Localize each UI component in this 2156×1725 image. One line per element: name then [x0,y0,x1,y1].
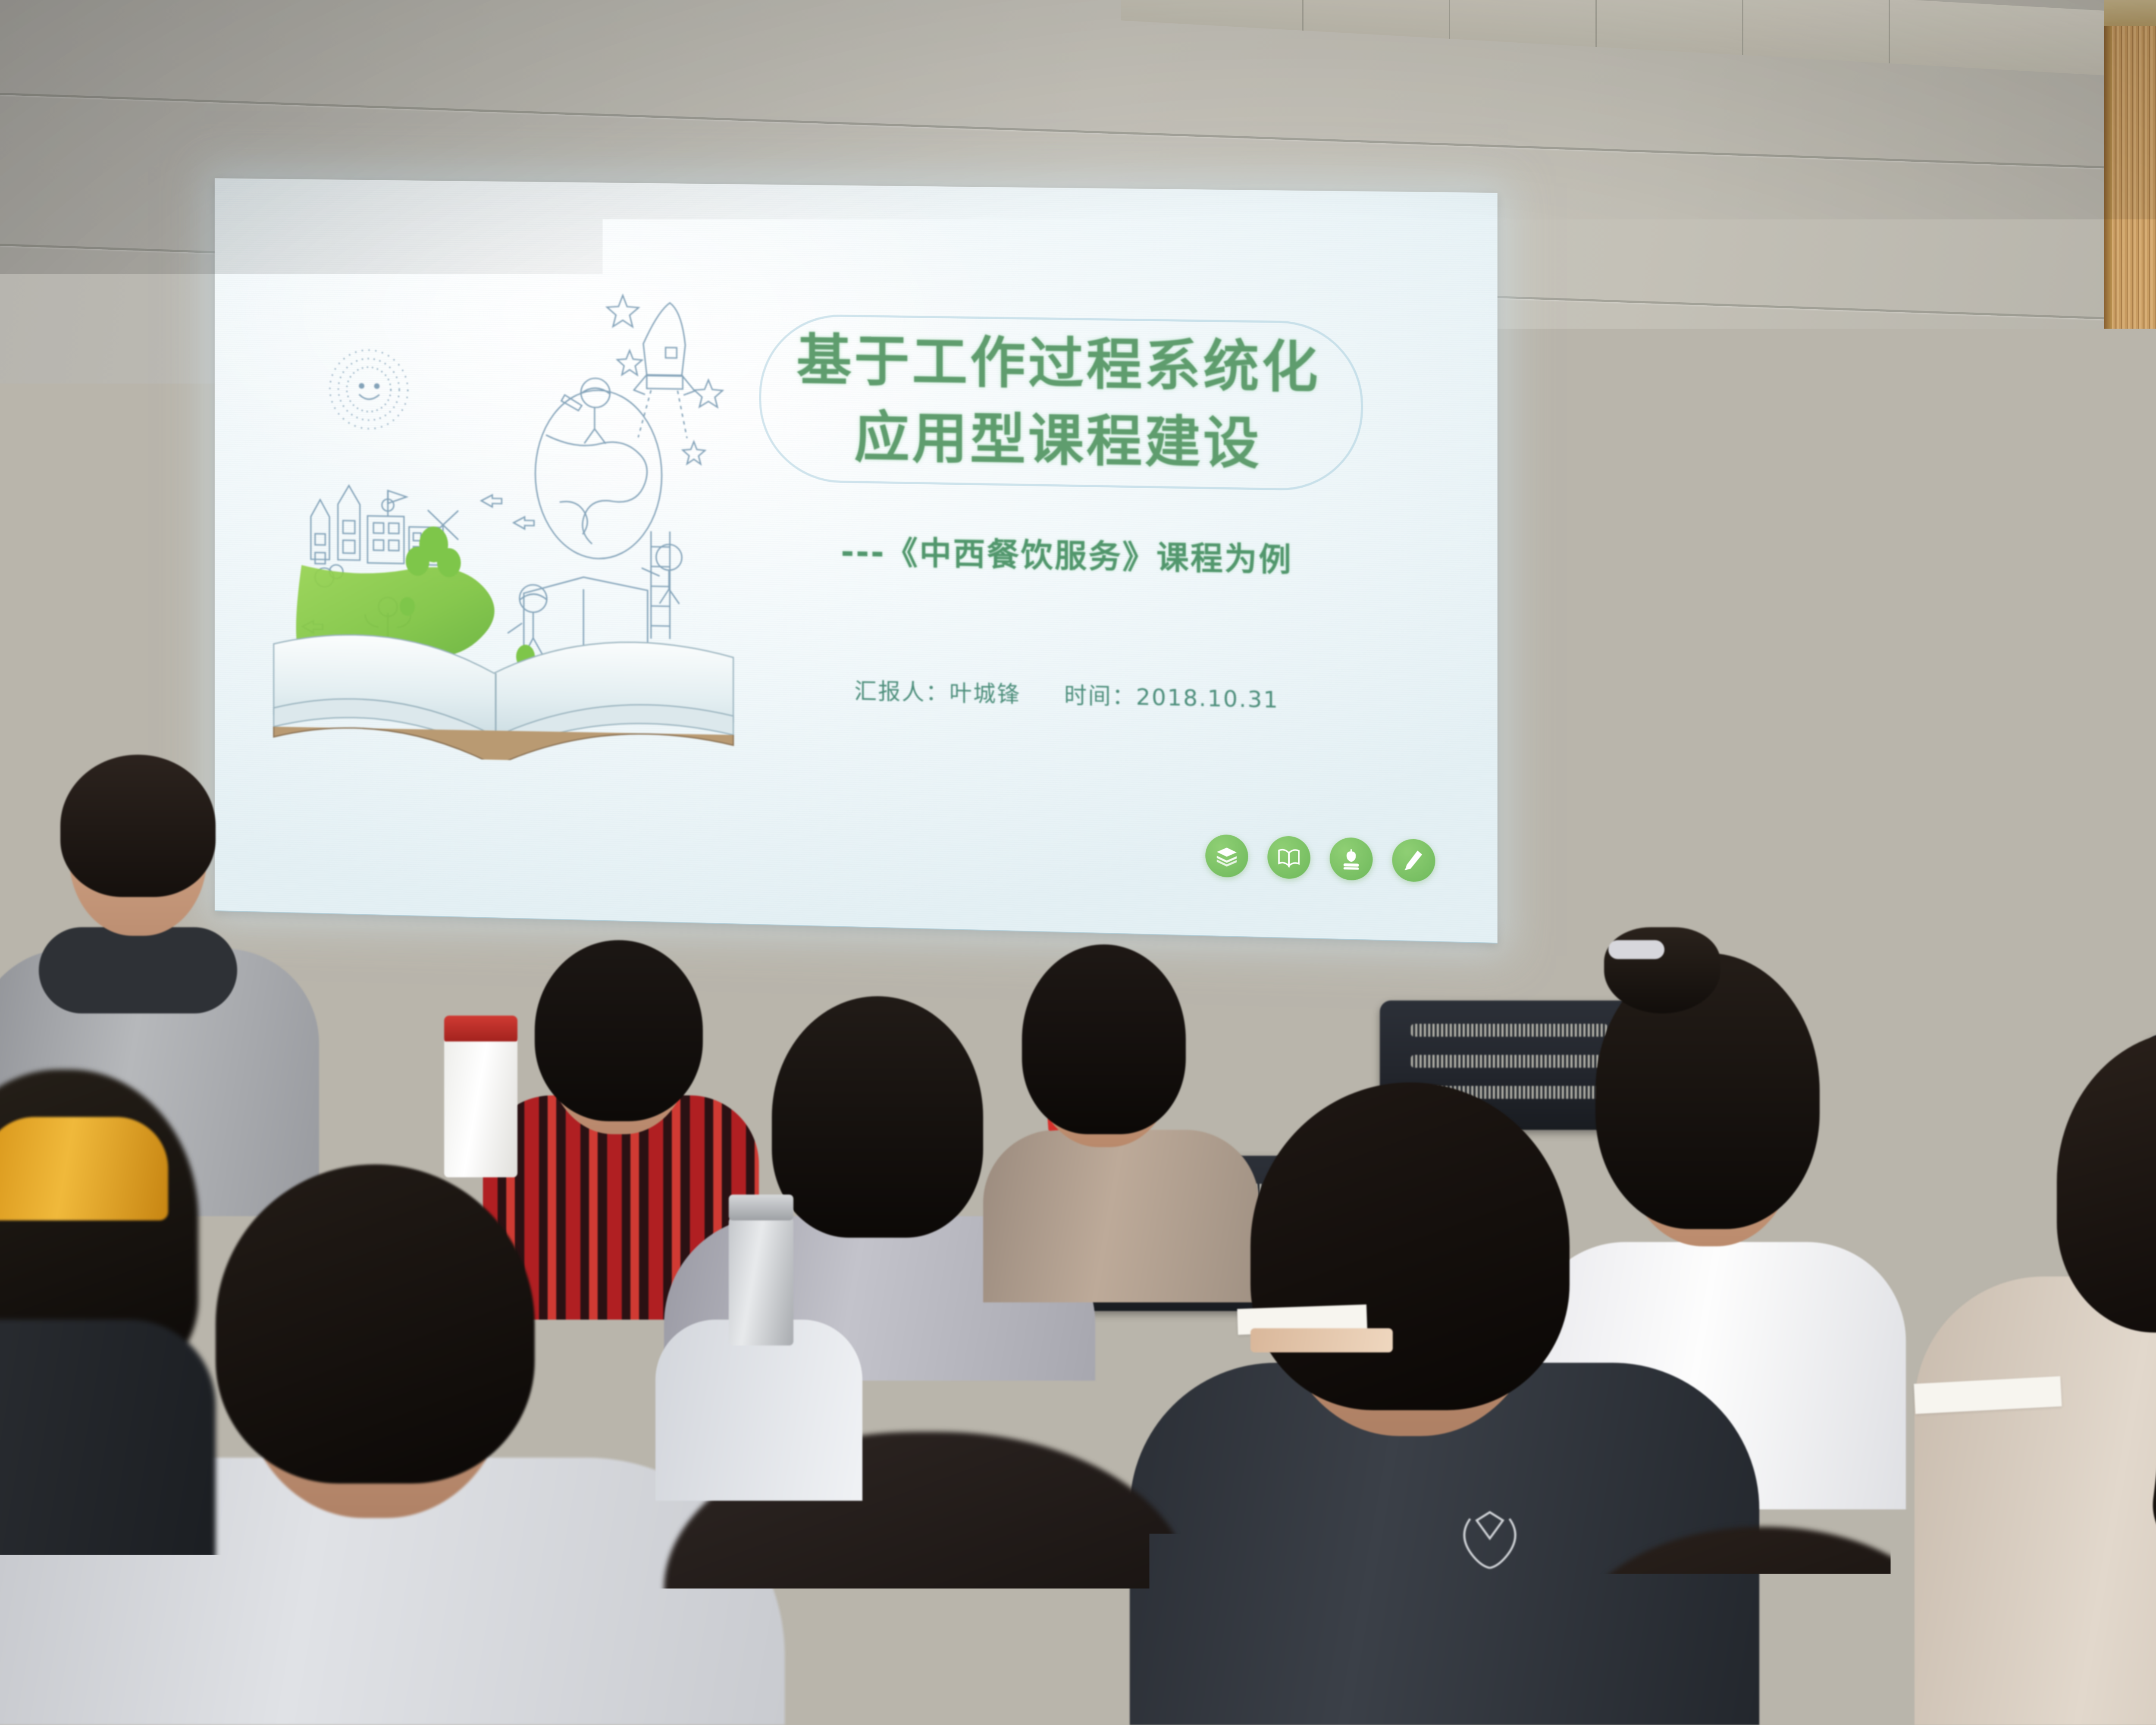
open-book-icon [1267,836,1310,879]
classroom-photo-scene: 基于工作过程系统化 应用型课程建设 ---《中西餐饮服务》课程为例 汇报人：叶城… [0,0,2156,1725]
steel-thermos [729,1216,793,1345]
projection-screen: 基于工作过程系统化 应用型课程建设 ---《中西餐饮服务》课程为例 汇报人：叶城… [215,178,1498,944]
slide-illustration [261,260,750,765]
wood-wall-trim [2104,0,2156,26]
bottle-red-cap [444,1016,517,1041]
pencil-icon [1392,838,1435,882]
slide-date: 时间：2018.10.31 [1064,683,1279,713]
vest-laurel-logo [1449,1501,1531,1570]
slide-title-line1: 基于工作过程系统化 [768,322,1350,407]
wood-wall-edge [2104,0,2112,1121]
apple-on-book-icon [1330,837,1373,881]
chair [1789,1104,2100,1259]
slide-title-line2: 应用型课程建设 [768,398,1350,484]
red-cap-water-bottle [444,1035,517,1177]
slide-icon-row [1205,834,1435,882]
yellow-beanie [0,1117,168,1220]
phone-on-desk [1250,1328,1393,1352]
blue-marker [1902,1466,1936,1501]
thermos-cap [729,1195,793,1220]
stacked-books-icon [1205,834,1248,878]
wood-slat-wall [2104,0,2156,1121]
slide-title: 基于工作过程系统化 应用型课程建设 [768,322,1350,484]
slide-presenter: 汇报人：叶城锋 [854,678,1021,708]
wood-panel-seam [2104,362,2156,367]
